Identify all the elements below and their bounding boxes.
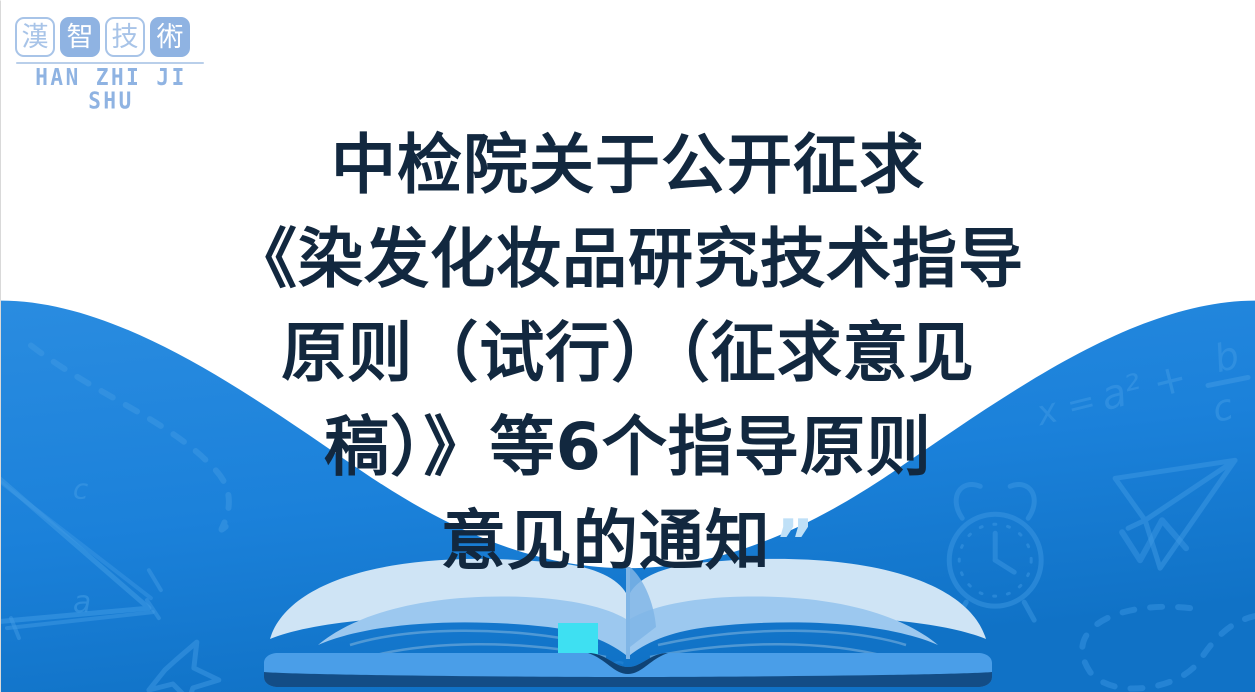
bottom-scribble-decoration: x = c - b: [545, 651, 673, 686]
book-leaf-left: [318, 596, 626, 655]
book-spine-fold: [626, 567, 630, 659]
dashed-loop-icon: [1082, 607, 1255, 689]
book-spine-notch: [588, 653, 668, 674]
title-line-4: 稿）》等6个指导原则: [41, 401, 1215, 495]
triangle-label-a: a: [73, 585, 91, 620]
brand-logo[interactable]: 漢 智 技 術 HAN ZHI JI SHU: [15, 17, 205, 108]
dashed-curve-icon: [31, 346, 233, 530]
wave-shape: [1, 301, 1255, 692]
book-bookmark-icon: [558, 623, 598, 677]
book-page-left: [270, 559, 626, 655]
alarm-clock-icon: [949, 484, 1041, 620]
notice-banner-slide: a c x = a² + b c: [0, 0, 1255, 692]
triangle-label-c: c: [73, 472, 88, 505]
title-line-3: 原则（试行）（征求意见: [41, 307, 1215, 401]
book-bookmark-shadow: [558, 657, 598, 677]
decoration-layer: a c x = a² + b c: [1, 333, 1255, 692]
math-formula-icon: x = a² + b c: [1032, 333, 1248, 435]
title-line-2: 《染发化妆品研究技术指导: [41, 213, 1215, 307]
title-line-5: 意见的通知”: [41, 495, 1215, 589]
svg-text:x =: x =: [1032, 381, 1100, 434]
logo-char-han: 漢: [15, 17, 55, 57]
title-line-5-text: 意见的通知: [441, 504, 771, 579]
svg-text:x = c - b: x = c - b: [545, 651, 673, 686]
book-page-lines-right: [646, 631, 906, 668]
paper-airplane-icon: [1115, 460, 1235, 568]
logo-char-ji: 技: [105, 17, 145, 57]
triangle-outline-icon: [1, 445, 161, 638]
open-book-illustration: [258, 527, 998, 692]
book-cover-shadow: [264, 672, 992, 687]
svg-text:b: b: [1210, 333, 1244, 382]
book-leaf-right: [630, 596, 938, 655]
logo-char-shu: 術: [150, 17, 190, 57]
checkmark-icon: [1122, 520, 1186, 560]
star-outline-icon: [149, 642, 219, 692]
title-line-1: 中检院关于公开征求: [41, 119, 1215, 213]
logo-character-row: 漢 智 技 術: [15, 17, 205, 57]
book-cover: [264, 653, 992, 687]
svg-text:a² +: a² +: [1096, 355, 1191, 421]
closing-quote-mark: ”: [775, 507, 815, 577]
book-page-right: [630, 559, 986, 655]
logo-char-zhi: 智: [60, 17, 100, 57]
page-title: 中检院关于公开征求 《染发化妆品研究技术指导 原则（试行）（征求意见 稿）》等6…: [1, 119, 1255, 589]
logo-subtitle: HAN ZHI JI SHU: [15, 66, 205, 113]
book-page-lines-left: [350, 631, 610, 668]
svg-text:c: c: [1208, 387, 1237, 432]
book-fold-shadow: [630, 567, 656, 647]
